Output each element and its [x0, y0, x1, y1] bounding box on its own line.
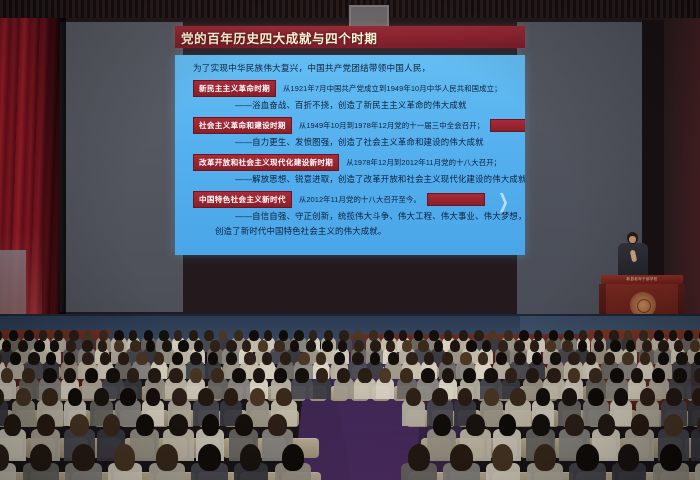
audience-member-head	[24, 330, 34, 341]
audience-member-head	[442, 352, 453, 365]
period-range-1: 从1921年7月中国共产党成立到1949年10月中华人民共和国成立；	[283, 83, 502, 94]
audience-member-head	[148, 368, 160, 383]
audience-member-head	[370, 352, 380, 365]
audience-member-head	[388, 352, 399, 365]
audience-member-head	[169, 368, 182, 383]
audience-member-head	[316, 368, 327, 383]
audience-member-head	[652, 368, 664, 383]
audience-member-head	[666, 388, 682, 406]
audience-member-head	[546, 340, 556, 352]
audience-member-head	[433, 414, 451, 436]
audience-member-head	[64, 352, 75, 365]
audience-member-head	[504, 330, 513, 341]
period-row-2: 社会主义革命和建设时期 从1949年10月到1978年12月党的十一届三中全会召…	[193, 117, 525, 134]
audience-member-head	[34, 340, 45, 352]
audience-member-head	[226, 352, 237, 365]
period-tag-4: 中国特色社会主义新时代	[193, 191, 292, 208]
audience-member-head	[46, 352, 56, 365]
audience-member-head	[418, 340, 429, 352]
audience-member-head	[64, 368, 75, 383]
audience-member-head	[28, 352, 40, 365]
audience-member-head	[478, 352, 488, 365]
period-achievement-1: ——浴血奋战、百折不挠，创造了新民主主义革命的伟大成就	[235, 99, 467, 111]
audience-member-head	[178, 340, 189, 352]
audience-member-head	[70, 414, 89, 436]
audience-member-head	[250, 388, 265, 406]
period-achievement-4: ——自信自强、守正创新，统揽伟大斗争、伟大工程、伟大事业、伟大梦想，	[235, 210, 525, 222]
audience-member-head	[618, 444, 639, 471]
audience-member-head	[673, 368, 686, 383]
audience-member-head	[100, 352, 110, 365]
audience-member-head	[37, 414, 55, 436]
period-tag-3: 改革开放和社会主义现代化建设新时期	[193, 154, 339, 171]
audience-member-head	[499, 414, 516, 436]
audience-member-head	[414, 330, 423, 341]
audience-member-head	[694, 352, 700, 365]
audience-member-head	[352, 352, 364, 365]
audience-member-head	[144, 330, 153, 341]
audience-member-head	[198, 444, 221, 471]
audience-member-head	[4, 414, 21, 436]
audience-member-head	[442, 368, 453, 383]
audience-member-head	[54, 330, 63, 341]
audience-member-head	[534, 444, 556, 471]
audience-member-head	[610, 368, 623, 383]
podium-banner-text: 新县老年干部学校	[603, 277, 681, 282]
audience-member-head	[626, 340, 635, 352]
audience-member-head	[42, 388, 58, 406]
period-achievement-4-line2: 创造了新时代中国特色社会主义的伟大成就。	[215, 225, 387, 237]
audience-member-head	[547, 368, 560, 383]
audience-member-head	[562, 340, 573, 352]
audience-member-head	[82, 352, 94, 365]
audience-member-head	[406, 352, 418, 365]
audience-member-head	[306, 340, 316, 352]
audience-member-head	[429, 330, 439, 341]
audience-member-head	[604, 352, 615, 365]
audience-member-head	[334, 352, 345, 365]
audience-member-head	[676, 352, 688, 365]
audience-member-head	[536, 388, 550, 406]
audience-member-head	[9, 330, 18, 341]
audience-member-head	[294, 330, 304, 341]
audience-member-head	[568, 352, 580, 365]
audience-member-head	[72, 444, 95, 471]
audience-member-head	[280, 352, 291, 365]
audience-member-head	[244, 352, 256, 365]
audience-member-head	[189, 330, 198, 341]
audience-member-head	[136, 352, 148, 365]
audience-member-head	[114, 330, 124, 341]
audience-member-head	[2, 340, 11, 352]
audience-member-head	[484, 388, 499, 406]
audience-member-head	[674, 340, 683, 352]
audience-member-head	[268, 414, 287, 436]
audience-member-head	[114, 444, 135, 471]
audience-member-head	[242, 340, 251, 352]
audience-member-head	[579, 330, 587, 341]
audience-member-head	[654, 330, 664, 341]
audience-member-head	[50, 340, 59, 352]
audience-member-head	[370, 340, 381, 352]
period-achievement-3: ——解放思想、锐意进取，创造了改革开放和社会主义现代化建设的伟大成就	[235, 173, 525, 185]
audience-member-head	[249, 330, 259, 341]
audience-member-head	[598, 414, 615, 436]
audience-member-head	[463, 368, 475, 383]
audience-member-head	[106, 368, 119, 383]
audience-member-head	[444, 330, 452, 341]
period-tag-1: 新民主主义革命时期	[193, 80, 276, 97]
audience-member-head	[658, 352, 669, 365]
audience-member-head	[264, 330, 272, 341]
audience-member-head	[154, 352, 164, 365]
audience-member-head	[610, 340, 621, 352]
audience-member-head	[609, 330, 619, 341]
audience-member-head	[146, 388, 160, 406]
auditorium-photo: 党的百年历史四大成就与四个时期 为了实现中华民族伟大复兴，中国共产党团结带领中国…	[0, 0, 700, 480]
audience-member-head	[631, 414, 649, 436]
audience-member-head	[198, 388, 214, 406]
audience-member-head	[458, 388, 472, 406]
audience-member-head	[258, 340, 268, 352]
audience-member-head	[324, 330, 333, 341]
audience-member-head	[692, 388, 700, 406]
audience-member-head	[136, 414, 154, 436]
period-range-3: 从1978年12月到2012年11月党的十八大召开；	[346, 157, 501, 168]
audience-member-head	[466, 414, 485, 436]
audience-member-head	[274, 340, 285, 352]
audience-member-head	[400, 368, 412, 383]
period-tag-2-accent	[490, 119, 525, 132]
audience-member-head	[162, 340, 172, 352]
audience-member-head	[22, 368, 34, 383]
audience-member-head	[534, 330, 542, 341]
audience-member-head	[279, 330, 288, 341]
audience-member-head	[66, 340, 76, 352]
audience-member-head	[489, 330, 497, 341]
audience-member-head	[282, 444, 304, 471]
audience-member-head	[594, 340, 604, 352]
audience-member-head	[459, 330, 468, 341]
audience-member-head	[10, 352, 21, 365]
audience-member-head	[130, 340, 141, 352]
audience-member-head	[337, 368, 349, 383]
period-range-4: 从2012年11月党的十八大召开至今。	[299, 194, 421, 205]
audience-member-head	[129, 330, 137, 341]
audience-member-head	[690, 340, 700, 352]
speaker-face	[629, 236, 636, 243]
audience-member-head	[658, 340, 669, 352]
audience-member-head	[98, 340, 107, 352]
audience-member-head	[219, 330, 227, 341]
audience-member-head	[354, 340, 364, 352]
audience-member-head	[69, 330, 79, 341]
audience-member-head	[208, 352, 218, 365]
audience-member-head	[85, 368, 97, 383]
audience-member-head	[532, 352, 542, 365]
audience-member-head	[114, 340, 124, 352]
audience-member-head	[43, 368, 56, 383]
audience-member-head	[450, 444, 473, 471]
period-row-1: 新民主主义革命时期 从1921年7月中国共产党成立到1949年10月中华人民共和…	[193, 80, 502, 97]
audience-member-head	[386, 340, 395, 352]
audience-member-head	[624, 330, 632, 341]
audience-member-head	[578, 340, 587, 352]
audience-member-head	[204, 330, 214, 341]
audience-member-head	[309, 330, 317, 341]
audience-member-head	[408, 444, 430, 471]
slide-title-bar: 党的百年历史四大成就与四个时期	[175, 26, 525, 48]
period-range-2: 从1949年10月到1978年12月党的十一届三中全会召开；	[299, 120, 484, 131]
audience-member-head	[586, 352, 596, 365]
audience-member-head	[253, 368, 264, 383]
audience-member-body	[695, 463, 700, 480]
audience-member-head	[450, 340, 460, 352]
audience-member-head	[68, 388, 82, 406]
audience-member-head	[235, 414, 253, 436]
audience-member-head	[39, 330, 47, 341]
audience-member-head	[156, 444, 178, 471]
audience-member-head	[224, 388, 238, 406]
audience-member-head	[694, 368, 700, 383]
audience-member-head	[631, 368, 642, 383]
audience-member-head	[232, 368, 245, 383]
audience-member-head	[421, 368, 434, 383]
audience-member-head	[103, 414, 120, 436]
audience-member-head	[466, 340, 477, 352]
period-achievement-2: ——自力更生、发愤图强，创造了社会主义革命和建设的伟大成就	[235, 136, 484, 148]
audience-member-head	[1, 368, 12, 383]
audience-member-head	[424, 352, 434, 365]
audience-member-head	[384, 330, 394, 341]
audience-member-head	[358, 368, 371, 383]
audience-member-head	[210, 340, 220, 352]
audience-member-head	[234, 330, 243, 341]
audience-member-head	[174, 330, 182, 341]
audience-member-head	[339, 330, 349, 341]
audience-member-head	[460, 352, 472, 365]
audience-member-head	[16, 388, 31, 406]
audience-member-head	[338, 340, 347, 352]
audience-member-head	[354, 330, 362, 341]
audience-member-head	[298, 352, 310, 365]
audience-member-head	[614, 388, 628, 406]
audience-member-head	[82, 340, 93, 352]
wall-panel-left	[57, 22, 183, 312]
audience-member-head	[322, 340, 333, 352]
audience-member-head	[514, 352, 526, 365]
audience-member-head	[94, 388, 109, 406]
audience-member-head	[482, 340, 491, 352]
audience-member-head	[190, 368, 201, 383]
audience-member-head	[562, 388, 577, 406]
audience-member-head	[30, 444, 52, 471]
audience-member-head	[684, 330, 693, 341]
audience-member-head	[226, 340, 237, 352]
audience-member-head	[642, 340, 652, 352]
audience-member-head	[194, 340, 203, 352]
audience-member-head	[146, 340, 155, 352]
audience-member-head	[589, 368, 601, 383]
audience-member-head	[594, 330, 603, 341]
audience-member-head	[172, 388, 187, 406]
audience-member-head	[99, 330, 108, 341]
audience-member-head	[379, 368, 390, 383]
audience-member-head	[127, 368, 138, 383]
audience-member-head	[406, 388, 421, 406]
audience-member-head	[519, 330, 529, 341]
audience-member-head	[276, 388, 292, 406]
audience-member-head	[402, 340, 412, 352]
audience-member-head	[510, 388, 526, 406]
audience-member-head	[172, 352, 183, 365]
audience-member-head	[84, 330, 92, 341]
audience-member-head	[240, 444, 261, 471]
audience-member-head	[664, 414, 683, 436]
audience-member-head	[514, 340, 525, 352]
slide-title: 党的百年历史四大成就与四个时期	[181, 28, 378, 47]
audience-member-head	[369, 330, 378, 341]
audience-member-head	[211, 368, 223, 383]
audience-member-head	[530, 340, 539, 352]
audience-member-head	[526, 368, 538, 383]
audience-member-head	[18, 340, 28, 352]
audience-member-head	[274, 368, 286, 383]
audience-member-head	[505, 368, 516, 383]
audience-member-head	[484, 368, 497, 383]
audience-member-head	[622, 352, 634, 365]
audience-member-head	[639, 330, 648, 341]
audience-member-head	[120, 388, 136, 406]
audience-member-head	[316, 352, 326, 365]
audience-member-head	[576, 444, 599, 471]
period-row-3: 改革开放和社会主义现代化建设新时期 从1978年12月到2012年11月党的十八…	[193, 154, 501, 171]
audience-member-head	[660, 444, 682, 471]
audience-member-head	[295, 368, 308, 383]
audience-member-head	[568, 368, 579, 383]
audience-member-head	[564, 330, 574, 341]
audience-member-head	[550, 352, 561, 365]
projected-slide: 为了实现中华民族伟大复兴，中国共产党团结带领中国人民， 新民主主义革命时期 从1…	[175, 55, 525, 255]
slide-lead-line: 为了实现中华民族伟大复兴，中国共产党团结带领中国人民，	[193, 62, 430, 74]
audience-member-head	[290, 340, 299, 352]
period-row-4: 中国特色社会主义新时代 从2012年11月党的十八大召开至今。	[193, 191, 485, 208]
audience-member-head	[549, 330, 558, 341]
audience	[0, 322, 700, 480]
audience-member-head	[432, 388, 448, 406]
audience-member-head	[262, 352, 272, 365]
period-tag-2: 社会主义革命和建设时期	[193, 117, 292, 134]
audience-member-head	[159, 330, 169, 341]
audience-member-head	[202, 414, 219, 436]
period-tag-4-accent	[427, 193, 485, 206]
audience-member-head	[434, 340, 443, 352]
audience-member-head	[498, 340, 508, 352]
audience-member-head	[118, 352, 129, 365]
audience-member-head	[565, 414, 584, 436]
curtain-highlight	[0, 230, 42, 318]
audience-member-head	[669, 330, 677, 341]
audience-member-head	[640, 352, 650, 365]
audience-member-head	[492, 444, 513, 471]
audience-member-head	[640, 388, 655, 406]
audience-member-head	[190, 352, 202, 365]
audience-member-head	[496, 352, 507, 365]
audience-member-head	[588, 388, 604, 406]
audience-member-head	[532, 414, 550, 436]
audience-member-head	[399, 330, 407, 341]
audience-member-head	[169, 414, 188, 436]
audience-member-head	[474, 330, 484, 341]
